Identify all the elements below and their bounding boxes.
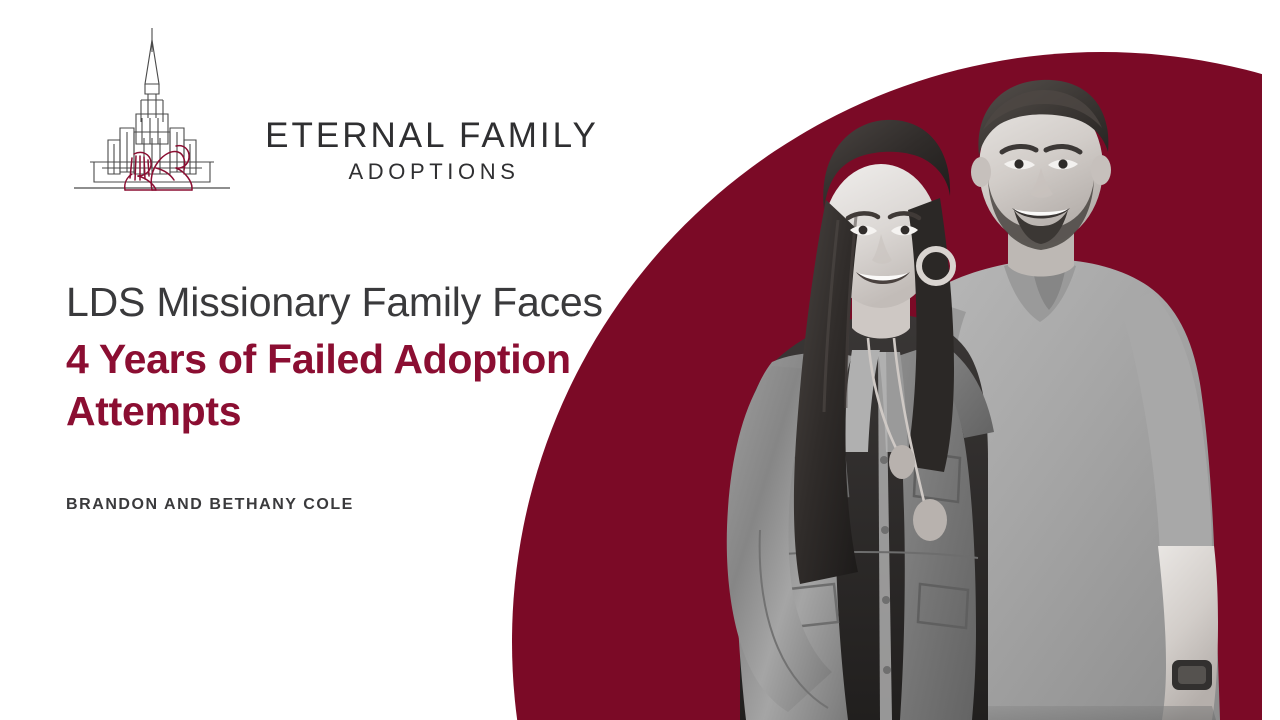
temple-with-family-icon xyxy=(72,22,232,194)
headline-main-line-2: Attempts xyxy=(66,388,241,434)
logo-title: ETERNAL FAMILY xyxy=(262,118,602,155)
brand-logo[interactable]: ETERNAL FAMILY ADOPTIONS xyxy=(72,22,532,197)
byline-names: BRANDON AND BETHANY COLE xyxy=(66,496,354,514)
logo-subtitle: ADOPTIONS xyxy=(262,160,602,183)
headline-kicker: LDS Missionary Family Faces xyxy=(66,278,696,326)
couple-portrait-photo xyxy=(600,60,1270,720)
headline-main: 4 Years of Failed Adoption Attempts xyxy=(66,334,696,437)
logo-wordmark: ETERNAL FAMILY ADOPTIONS xyxy=(262,118,602,183)
headline-main-line-1: 4 Years of Failed Adoption xyxy=(66,336,571,382)
story-card: ETERNAL FAMILY ADOPTIONS LDS Missionary … xyxy=(0,0,1280,720)
headline-block: LDS Missionary Family Faces 4 Years of F… xyxy=(66,278,696,438)
